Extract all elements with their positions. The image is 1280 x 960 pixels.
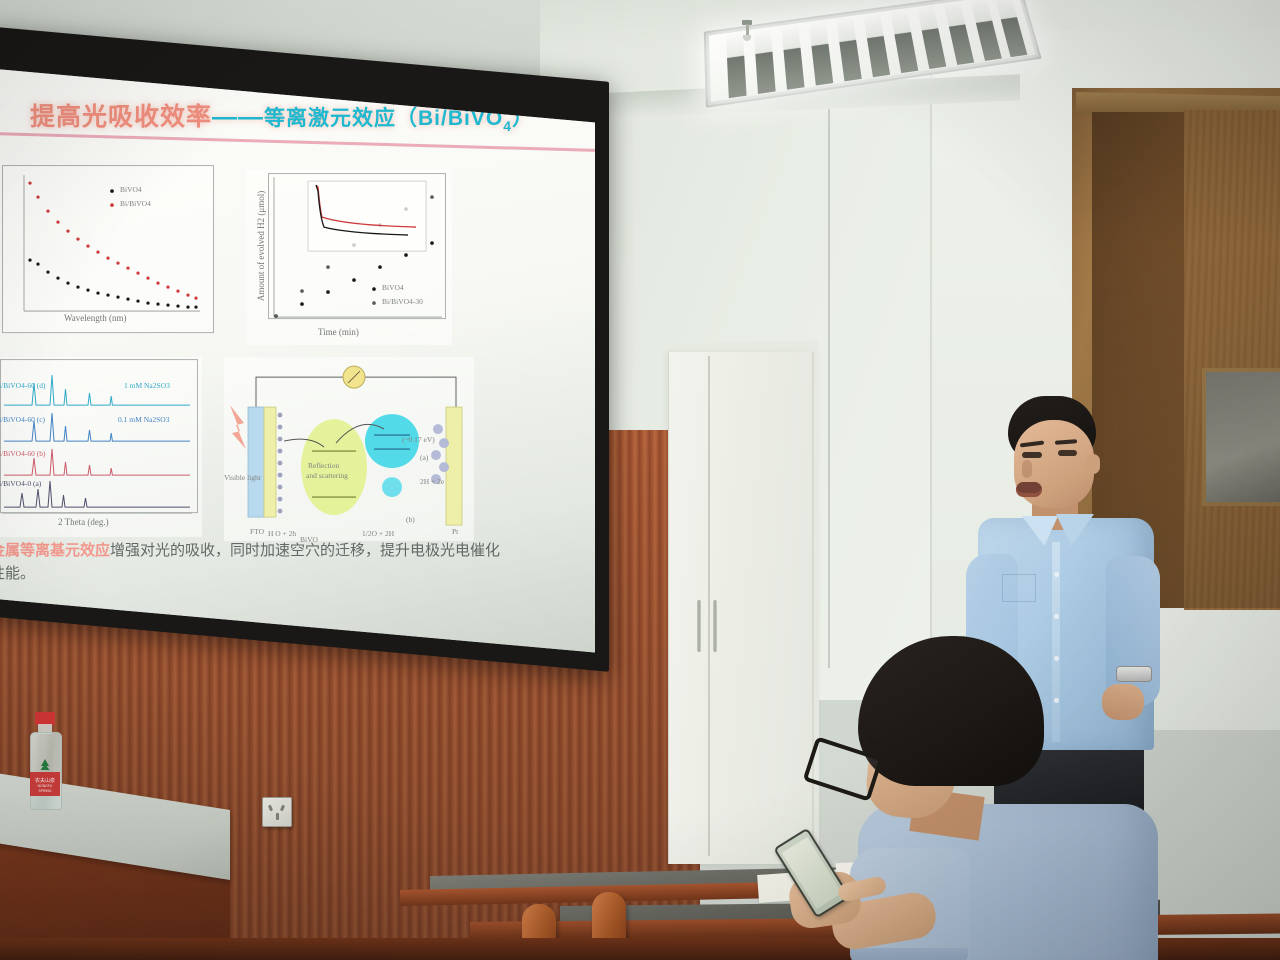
slide-title-dash: —— — [212, 103, 264, 131]
chart-trace-label: Bi/BiVO4-60 (d) — [0, 381, 45, 390]
mechanism-svg — [224, 357, 474, 541]
chart-ylabel: Amount of evolved H2 (μmol) — [256, 191, 266, 301]
label-cathode-reaction: 2H + 2e — [420, 477, 444, 486]
cabinet-handle-right[interactable] — [713, 600, 717, 652]
projection-screen: 提高光吸收效率——等离激元效应（Bi/BiVO4） — [0, 26, 609, 672]
bottle-brand-text: 农夫山泉 NONGFU SPRING — [31, 778, 59, 793]
chart-legend-item: Bi/BiVO4-30 — [382, 297, 423, 306]
label-reflection: Reflection — [308, 461, 339, 470]
label-fig-a: (a) — [420, 453, 428, 462]
slide-title-main: 提高光吸收效率 — [30, 103, 212, 131]
presenter-nose — [1022, 460, 1032, 478]
seated-attendee-person — [762, 636, 1182, 960]
wall-seam — [930, 60, 932, 680]
wall-seam — [828, 108, 830, 668]
label-visible-light: Visible light — [224, 473, 261, 482]
slide-note-highlight: 金属等离基元效应 — [0, 542, 110, 559]
cabinet-door-seam — [708, 356, 710, 856]
chart-xlabel: Wavelength (nm) — [64, 313, 127, 323]
fire-sprinkler-icon — [742, 20, 752, 42]
chart-legend-item: BiVO4 — [120, 185, 142, 194]
label-pt: Pt — [452, 527, 458, 536]
chart-h2-evolution: Amount of evolved H2 (μmol) Time (min) B… — [246, 169, 452, 345]
label-fto: FTO — [250, 527, 264, 536]
label-fig-b: (b) — [406, 515, 415, 524]
chart-trace-label: Bi/BiVO4-60 (c) — [0, 415, 45, 424]
presenter-shirt-button — [1054, 572, 1059, 577]
wall-outlet-icon[interactable] — [262, 797, 292, 827]
chart-trace-label: Bi/BiVO4-60 (b) — [0, 449, 45, 458]
chart-legend-item: Bi/BiVO4 — [120, 199, 151, 208]
title-underline-rule — [0, 132, 595, 153]
label-anode-reaction: H O + 2h — [268, 529, 296, 538]
chart-trace-annotation: 0.1 mM Na2SO3 — [118, 415, 169, 424]
chart-uv-vis-absorption: BiVO4 Bi/BiVO4 Wavelength (nm) — [2, 165, 214, 333]
cabinet-handle-left[interactable] — [697, 600, 701, 652]
label-energy-gap: (~0.17 eV) — [402, 435, 435, 444]
water-bottle[interactable]: 农夫山泉 NONGFU SPRING — [28, 712, 62, 808]
chart-trace-annotation: 1 mM Na2SO3 — [124, 381, 170, 390]
chart-xrd-patterns: Bi/BiVO4-60 (d) 1 mM Na2SO3 Bi/BiVO4-60 … — [0, 357, 202, 537]
lecture-room-scene: 提高光吸收效率——等离激元效应（Bi/BiVO4） — [0, 0, 1280, 960]
attendee-hair — [858, 636, 1044, 786]
bottle-logo-icon — [38, 758, 52, 772]
presenter-shirt-button — [1054, 614, 1059, 619]
presenter-ear — [1086, 454, 1100, 474]
slide-conclusion-text: 金属等离基元效应增强对光的吸收，同时加速空穴的迁移，提升电极光电催化性能。 — [0, 539, 510, 586]
attendee-sleeve-cuff — [850, 948, 968, 960]
label-scattering: and scattering — [306, 471, 348, 480]
presenter-eye — [1022, 452, 1042, 458]
presenter-eye — [1058, 450, 1077, 456]
presenter-shirt-pocket — [1002, 574, 1036, 602]
chart-xlabel: Time (min) — [318, 327, 359, 337]
chart-trace-label: Bi/BiVO4-0 (a) — [0, 479, 41, 488]
projected-slide: 提高光吸收效率——等离激元效应（Bi/BiVO4） — [0, 69, 595, 652]
slide-title-sub: 等离激元效应（Bi/BiVO — [264, 107, 503, 130]
slide-title-sub-subscript: 4 — [503, 118, 512, 134]
diagram-photoelectrochemical-mechanism: Visible light FTO BiVO Pt Reflection and… — [224, 357, 474, 541]
label-anode-product: 1/2O + 2H — [362, 529, 394, 538]
chart-xlabel: 2 Theta (deg.) — [58, 517, 109, 527]
chart-legend-item: BiVO4 — [382, 283, 404, 292]
bottle-brand-en: NONGFU SPRING — [31, 784, 59, 793]
presenter-mouth — [1016, 482, 1042, 497]
